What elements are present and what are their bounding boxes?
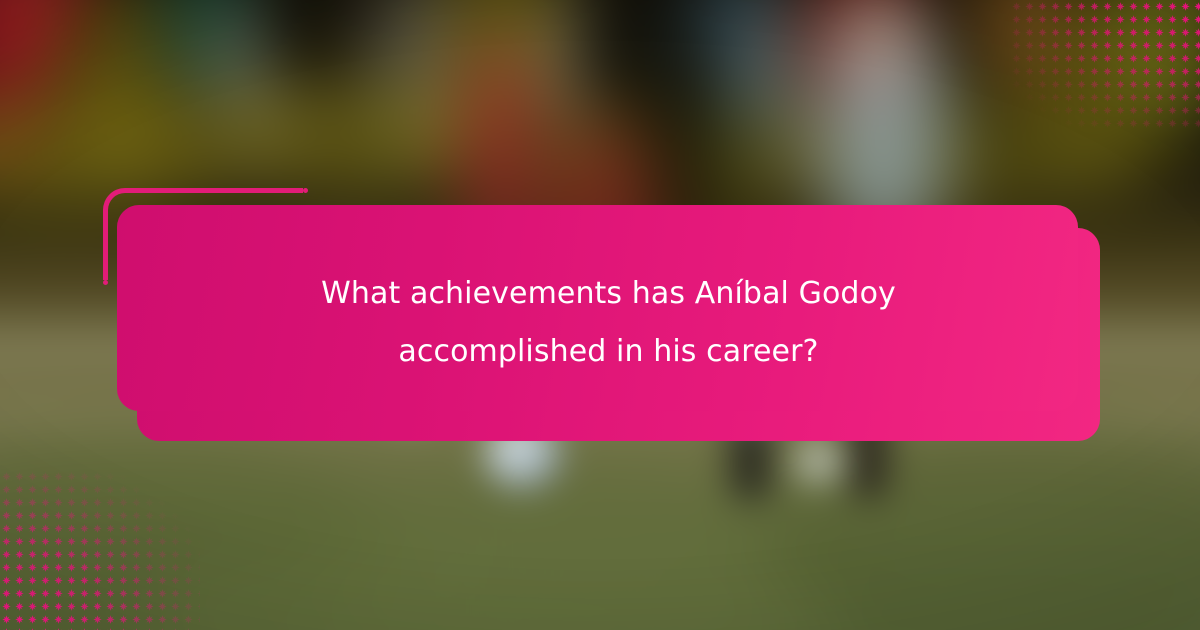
question-line-2: accomplished in his career?: [398, 324, 818, 380]
halftone-pattern-bottom-left: [0, 470, 200, 630]
question-text-block: What achievements has Aníbal Godoy accom…: [117, 205, 1100, 441]
halftone-pattern-top-right: [1010, 0, 1200, 130]
question-line-1: What achievements has Aníbal Godoy: [321, 266, 896, 322]
share-card-canvas: What achievements has Aníbal Godoy accom…: [0, 0, 1200, 630]
